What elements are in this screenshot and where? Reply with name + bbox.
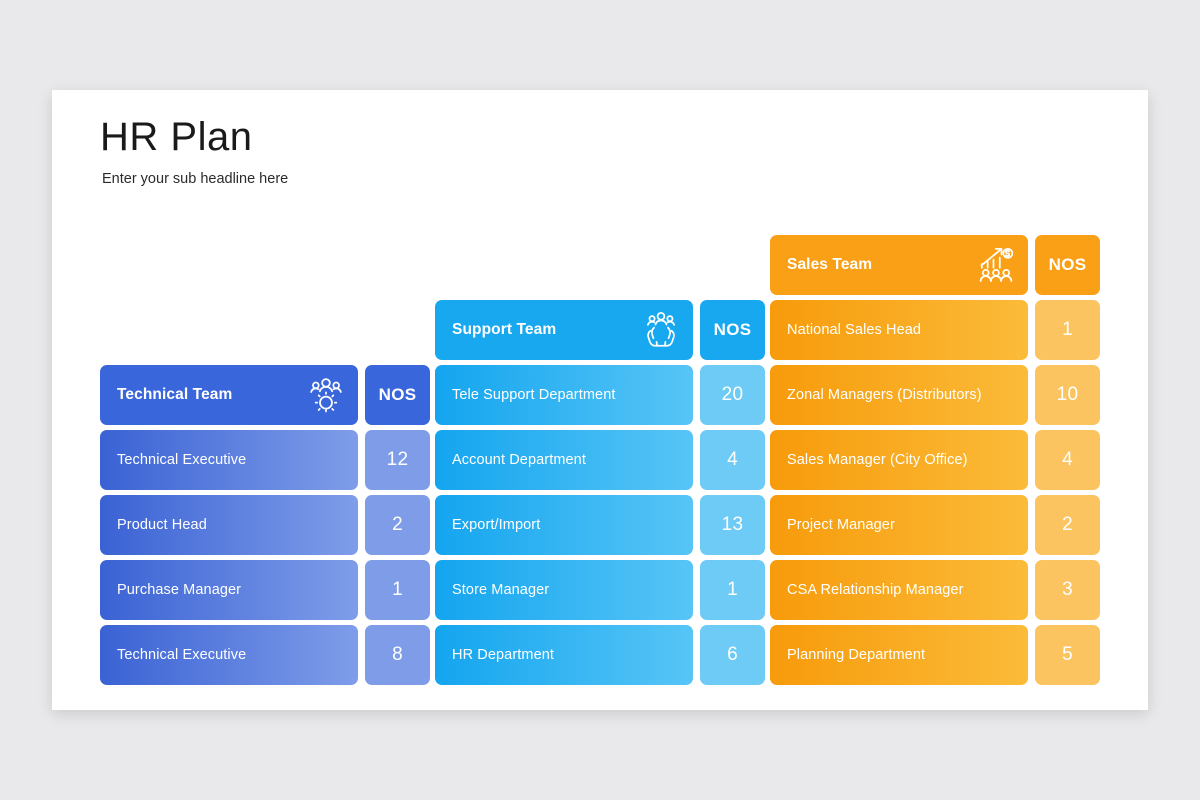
row-value: 2 bbox=[1035, 495, 1100, 555]
column-technical-team: Technical Team bbox=[100, 365, 430, 685]
table-row[interactable]: Tele Support Department 20 bbox=[435, 365, 765, 425]
table-row[interactable]: Product Head 2 bbox=[100, 495, 430, 555]
table-row[interactable]: CSA Relationship Manager 3 bbox=[770, 560, 1100, 620]
row-value: 20 bbox=[700, 365, 765, 425]
row-value: 4 bbox=[700, 430, 765, 490]
column-title-text: Support Team bbox=[452, 321, 556, 339]
column-title-cell: Support Team bbox=[435, 300, 693, 360]
row-label: Product Head bbox=[100, 495, 358, 555]
row-label: Sales Manager (City Office) bbox=[770, 430, 1028, 490]
row-value: 1 bbox=[1035, 300, 1100, 360]
row-label: Zonal Managers (Distributors) bbox=[770, 365, 1028, 425]
row-label: HR Department bbox=[435, 625, 693, 685]
column-title-cell: Sales Team bbox=[770, 235, 1028, 295]
row-value: 1 bbox=[365, 560, 430, 620]
table-row[interactable]: National Sales Head 1 bbox=[770, 300, 1100, 360]
column-support-team: Support Team bbox=[435, 300, 765, 685]
column-title-cell: Technical Team bbox=[100, 365, 358, 425]
row-label: National Sales Head bbox=[770, 300, 1028, 360]
column-value-header: NOS bbox=[1035, 235, 1100, 295]
table-row[interactable]: HR Department 6 bbox=[435, 625, 765, 685]
row-value: 2 bbox=[365, 495, 430, 555]
page-title: HR Plan bbox=[100, 115, 288, 159]
row-label: Export/Import bbox=[435, 495, 693, 555]
row-label: Technical Executive bbox=[100, 625, 358, 685]
row-value: 8 bbox=[365, 625, 430, 685]
row-label: Tele Support Department bbox=[435, 365, 693, 425]
row-value: 3 bbox=[1035, 560, 1100, 620]
row-value: 12 bbox=[365, 430, 430, 490]
table-row[interactable]: Export/Import 13 bbox=[435, 495, 765, 555]
column-header-sales-team[interactable]: Sales Team bbox=[770, 235, 1100, 295]
row-label: Project Manager bbox=[770, 495, 1028, 555]
row-label: Account Department bbox=[435, 430, 693, 490]
table-row[interactable]: Project Manager 2 bbox=[770, 495, 1100, 555]
table-row[interactable]: Purchase Manager 1 bbox=[100, 560, 430, 620]
header-block: HR Plan Enter your sub headline here bbox=[100, 115, 288, 187]
people-gear-icon bbox=[306, 375, 346, 415]
column-header-support-team[interactable]: Support Team bbox=[435, 300, 765, 360]
row-value: 13 bbox=[700, 495, 765, 555]
page-subtitle: Enter your sub headline here bbox=[102, 171, 288, 187]
column-title-text: Technical Team bbox=[117, 386, 232, 404]
table-row[interactable]: Planning Department 5 bbox=[770, 625, 1100, 685]
row-label: CSA Relationship Manager bbox=[770, 560, 1028, 620]
table-row[interactable]: Store Manager 1 bbox=[435, 560, 765, 620]
sales-growth-people-icon bbox=[976, 245, 1016, 285]
column-value-header: NOS bbox=[365, 365, 430, 425]
table-row[interactable]: Account Department 4 bbox=[435, 430, 765, 490]
slide-canvas: HR Plan Enter your sub headline here Tec… bbox=[52, 90, 1148, 710]
row-value: 5 bbox=[1035, 625, 1100, 685]
column-title-text: Sales Team bbox=[787, 256, 872, 274]
row-label: Store Manager bbox=[435, 560, 693, 620]
table-row[interactable]: Sales Manager (City Office) 4 bbox=[770, 430, 1100, 490]
column-header-technical-team[interactable]: Technical Team bbox=[100, 365, 430, 425]
row-label: Purchase Manager bbox=[100, 560, 358, 620]
table-row[interactable]: Technical Executive 12 bbox=[100, 430, 430, 490]
row-value: 4 bbox=[1035, 430, 1100, 490]
row-value: 1 bbox=[700, 560, 765, 620]
column-sales-team: Sales Team bbox=[770, 235, 1100, 685]
row-value: 10 bbox=[1035, 365, 1100, 425]
row-label: Technical Executive bbox=[100, 430, 358, 490]
hr-plan-chart: Technical Team bbox=[100, 215, 1105, 685]
table-row[interactable]: Zonal Managers (Distributors) 10 bbox=[770, 365, 1100, 425]
table-row[interactable]: Technical Executive 8 bbox=[100, 625, 430, 685]
column-value-header: NOS bbox=[700, 300, 765, 360]
row-label: Planning Department bbox=[770, 625, 1028, 685]
people-in-hands-icon bbox=[641, 310, 681, 350]
row-value: 6 bbox=[700, 625, 765, 685]
